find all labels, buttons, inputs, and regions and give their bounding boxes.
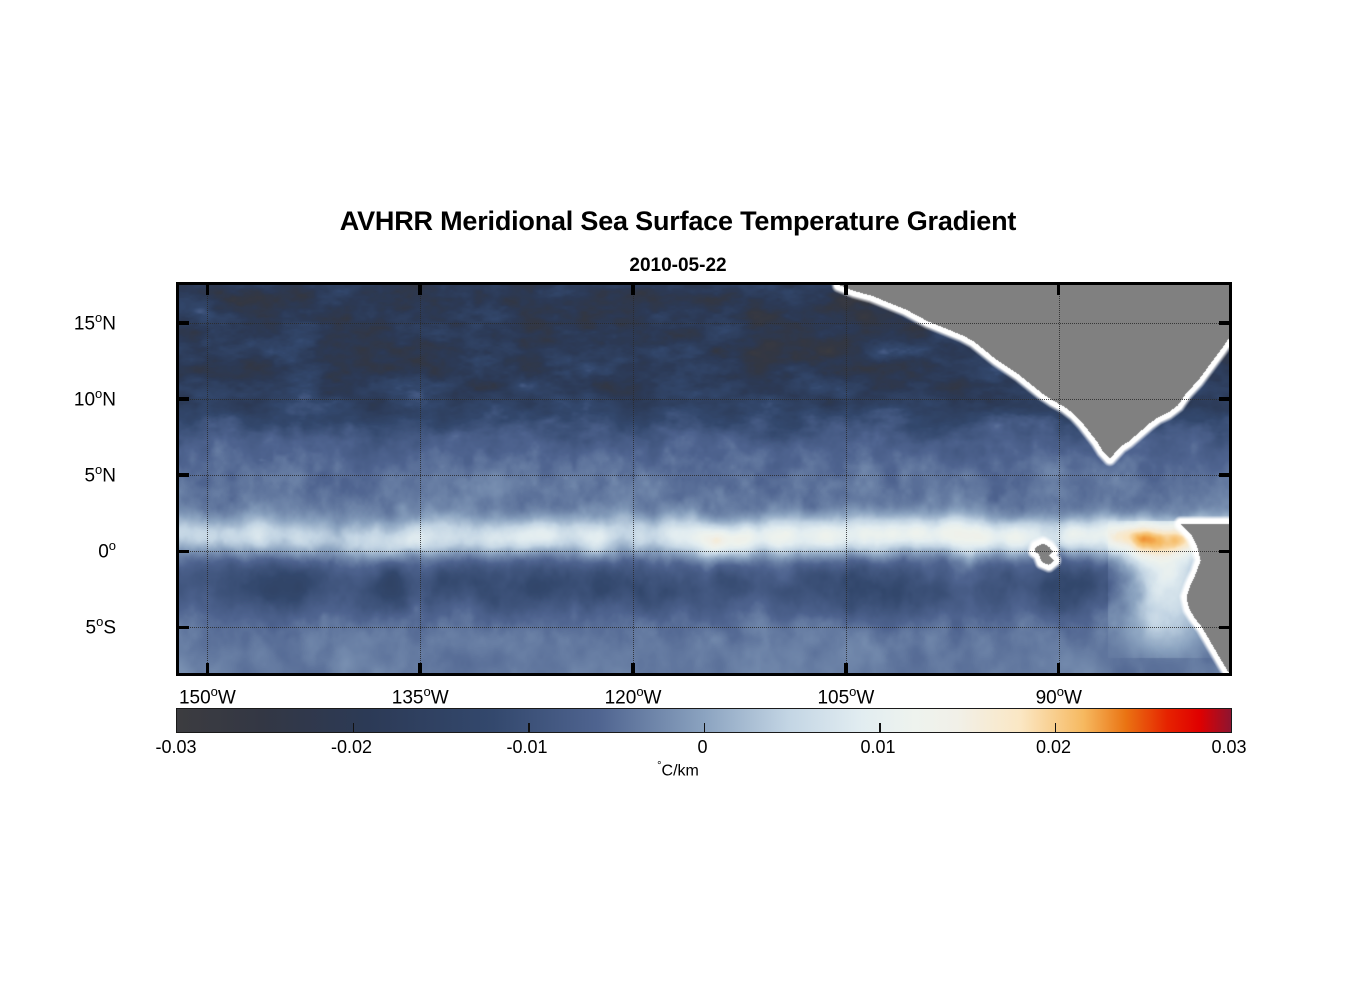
x-axis-tick-label: 120oW <box>558 684 708 709</box>
y-axis-tick <box>1219 473 1230 477</box>
x-axis-tick <box>844 284 848 295</box>
colorbar-tick-label: 0.02 <box>984 737 1124 758</box>
y-axis-tick <box>1219 550 1230 554</box>
colorbar-tick-label: 0.01 <box>808 737 948 758</box>
colorbar-tick <box>353 723 355 732</box>
y-axis-tick-label: 5oS <box>0 614 116 639</box>
gridline-lat <box>179 399 1229 400</box>
y-axis-tick-label: 10oN <box>0 386 116 411</box>
x-axis-tick-label: 135oW <box>345 684 495 709</box>
colorbar-unit-label: °C/km <box>0 760 1356 780</box>
gridline-lat <box>179 323 1229 324</box>
x-axis-tick <box>1057 663 1061 674</box>
colorbar-tick <box>879 723 881 732</box>
x-axis-tick <box>418 663 422 674</box>
colorbar-tick-label: -0.02 <box>282 737 422 758</box>
x-axis-tick <box>631 663 635 674</box>
figure-canvas: AVHRR Meridional Sea Surface Temperature… <box>0 0 1356 1000</box>
x-axis-tick <box>206 284 210 295</box>
gridline-lat <box>179 551 1229 552</box>
figure-subtitle: 2010-05-22 <box>0 255 1356 277</box>
colorbar-tick-label: 0 <box>633 737 773 758</box>
page-title: AVHRR Meridional Sea Surface Temperature… <box>0 206 1356 237</box>
y-axis-tick <box>178 473 189 477</box>
gridline-lon <box>207 285 208 673</box>
x-axis-tick <box>844 663 848 674</box>
map-axes[interactable] <box>176 282 1232 676</box>
gridline-lon <box>1059 285 1060 673</box>
y-axis-tick <box>178 550 189 554</box>
y-axis-tick <box>1219 321 1230 325</box>
x-axis-tick <box>206 663 210 674</box>
colorbar-tick <box>1055 723 1057 732</box>
y-axis-tick <box>178 397 189 401</box>
sst-gradient-heatmap <box>179 285 1229 673</box>
x-axis-tick <box>631 284 635 295</box>
gridline-lat <box>179 475 1229 476</box>
gridline-lat <box>179 627 1229 628</box>
colorbar[interactable] <box>176 708 1232 733</box>
y-axis-tick-label: 0o <box>0 538 116 563</box>
y-axis-tick <box>1219 397 1230 401</box>
colorbar-tick <box>528 723 530 732</box>
gridline-lon <box>633 285 634 673</box>
y-axis-tick-label: 5oN <box>0 462 116 487</box>
colorbar-tick-label: -0.01 <box>457 737 597 758</box>
gridline-lon <box>846 285 847 673</box>
colorbar-tick-label: 0.03 <box>1159 737 1299 758</box>
x-axis-tick-label: 90oW <box>984 684 1134 709</box>
y-axis-tick <box>178 626 189 630</box>
x-axis-tick-label: 105oW <box>771 684 921 709</box>
y-axis-tick-label: 15oN <box>0 310 116 335</box>
x-axis-tick-label: 150oW <box>132 684 282 709</box>
gridline-lon <box>420 285 421 673</box>
y-axis-tick <box>1219 626 1230 630</box>
colorbar-tick <box>704 723 706 732</box>
x-axis-tick <box>1057 284 1061 295</box>
x-axis-tick <box>418 284 422 295</box>
heatmap-canvas <box>179 285 1229 673</box>
colorbar-tick-label: -0.03 <box>106 737 246 758</box>
y-axis-tick <box>178 321 189 325</box>
